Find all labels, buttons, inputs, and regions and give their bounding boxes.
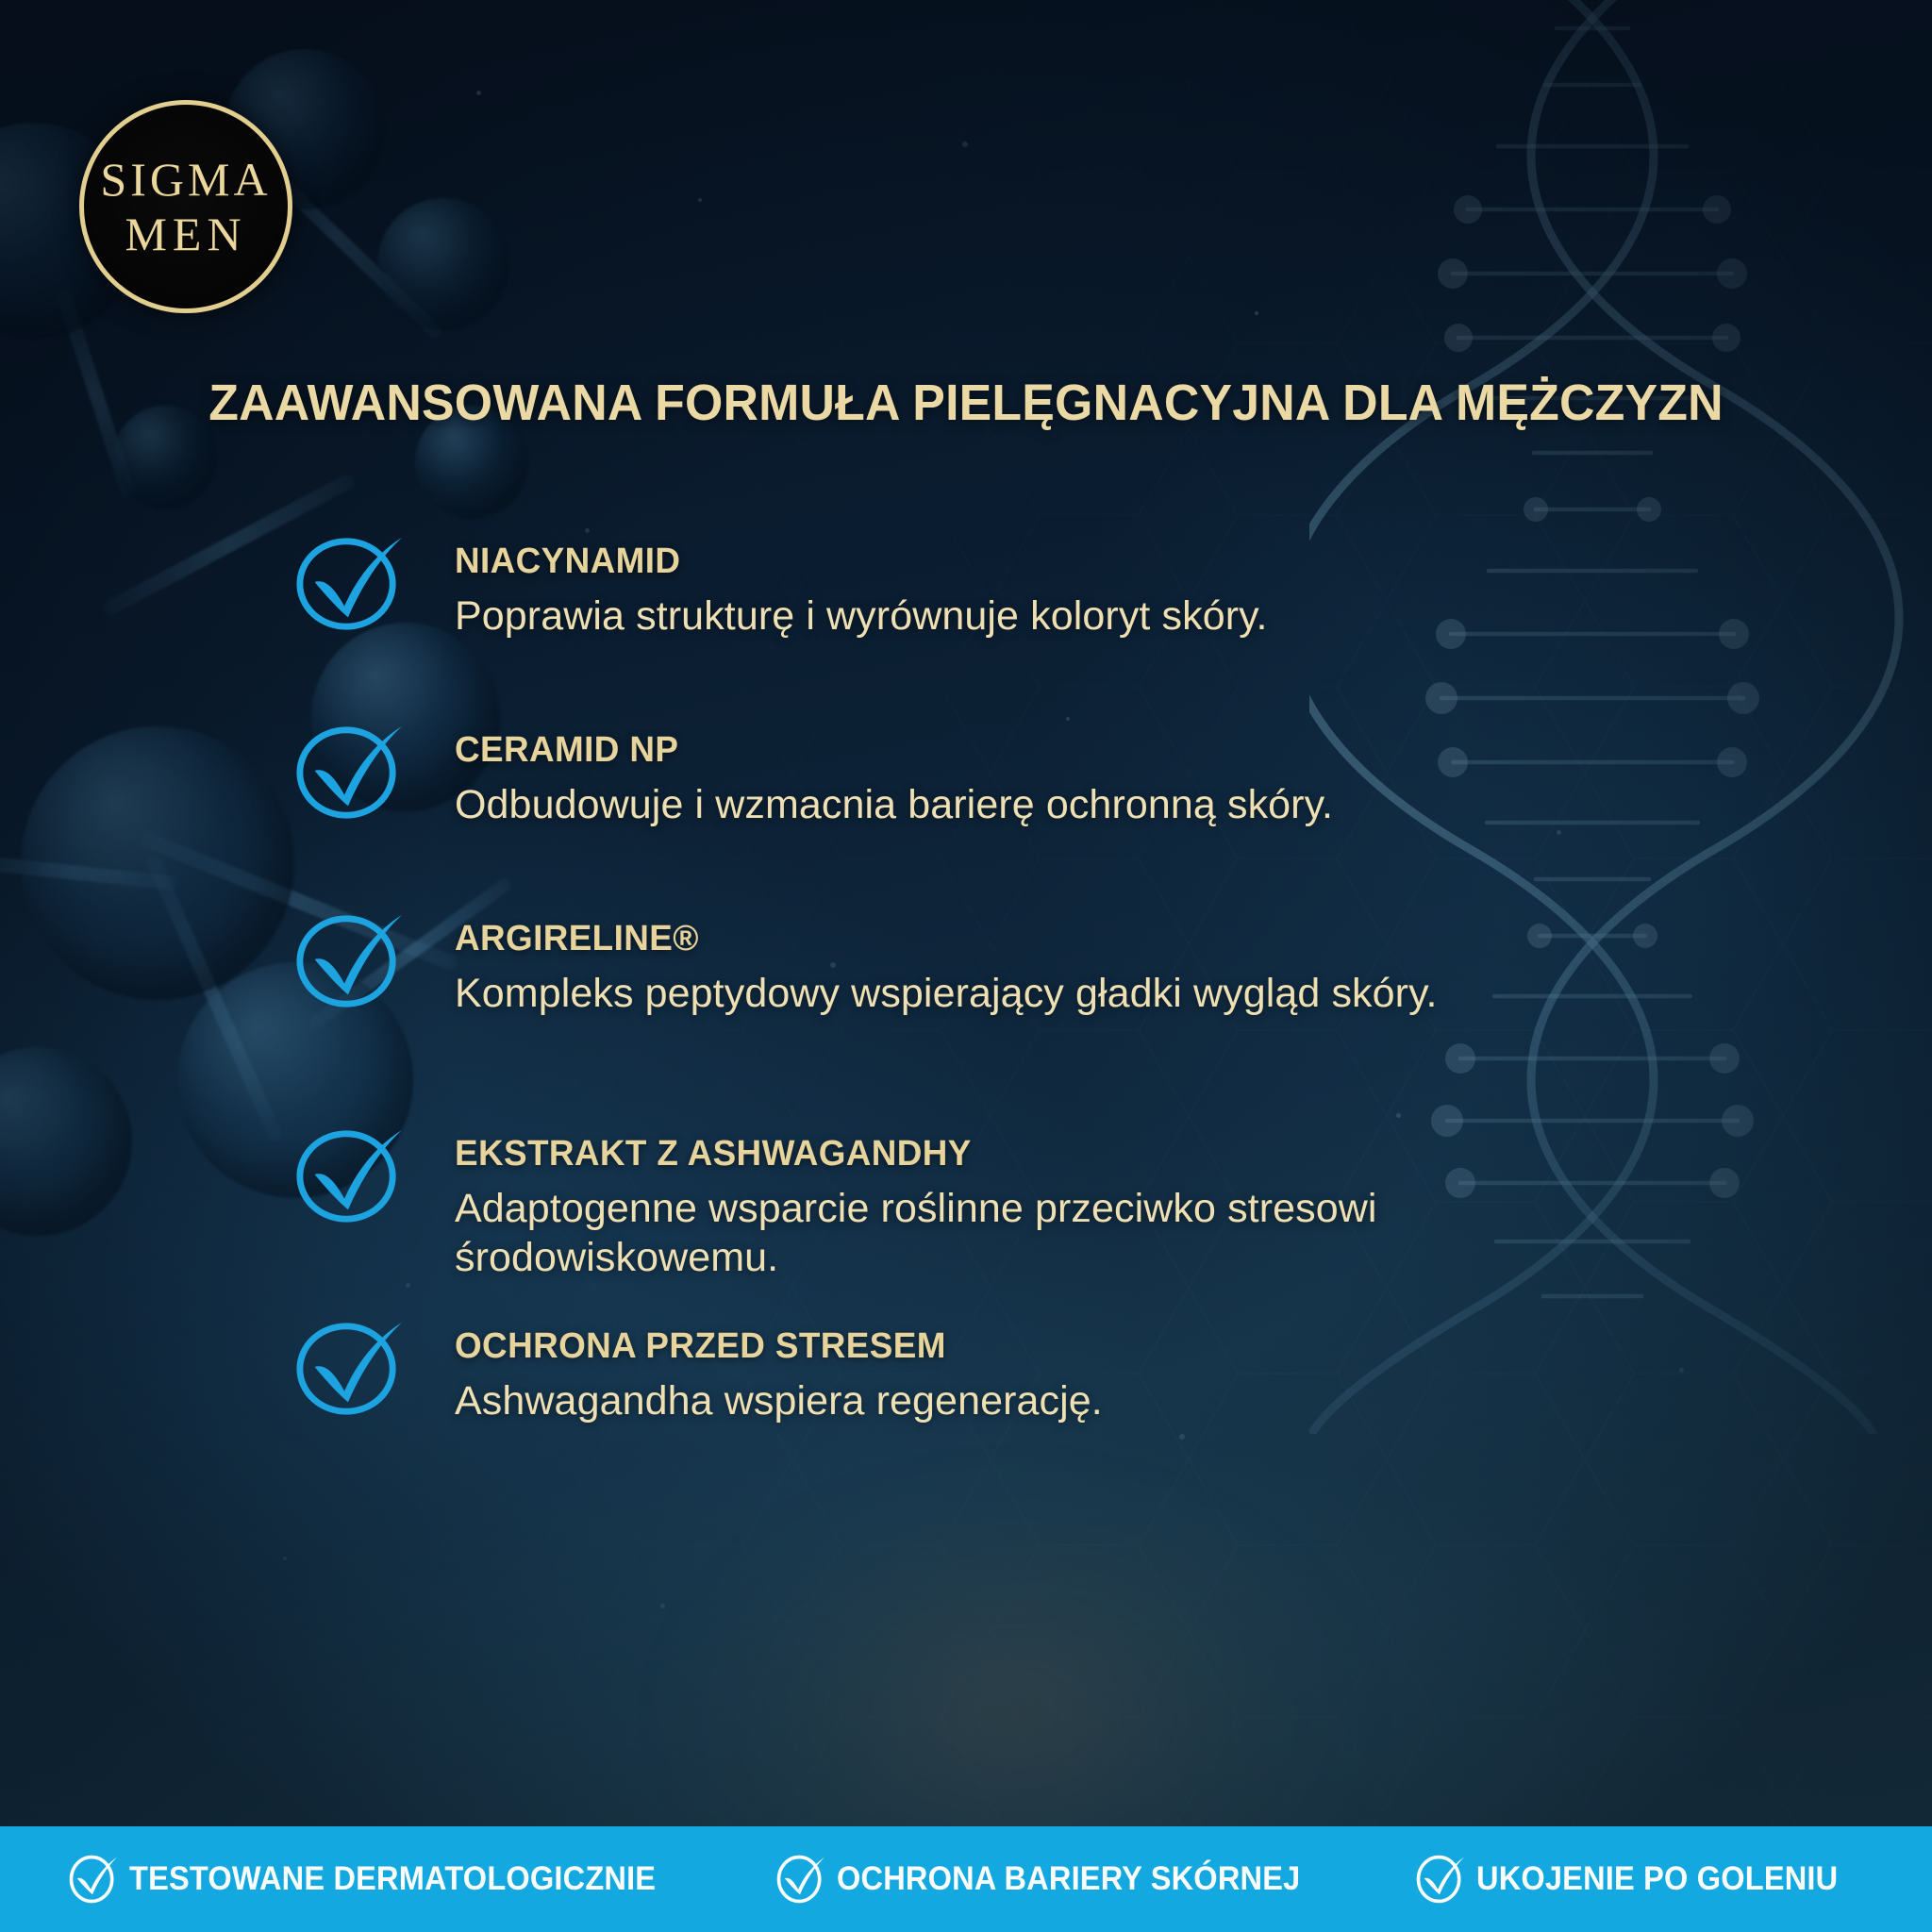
list-item-text: NIACYNAMID Poprawia strukturę i wyrównuj… — [455, 534, 1819, 641]
claim-badge-skin-barrier-protection: OCHRONA BARIERY SKÓRNEJ — [774, 1854, 1335, 1905]
check-circle-icon — [1414, 1854, 1465, 1905]
check-circle-icon — [292, 906, 404, 1017]
claim-label: OCHRONA BARIERY SKÓRNEJ — [837, 1860, 1300, 1898]
feature-title: OCHRONA PRZED STRESEM — [455, 1326, 1778, 1367]
feature-title: CERAMID NP — [455, 730, 1778, 771]
check-circle-icon — [292, 1121, 404, 1232]
list-item-text: ARGIRELINE® Kompleks peptydowy wspierają… — [455, 911, 1819, 1018]
poster-canvas: SIGMA MEN ZAAWANSOWANA FORMUŁA PIELĘGNAC… — [0, 0, 1932, 1932]
list-item: EKSTRAKT Z ASHWAGANDHY Adaptogenne wspar… — [292, 1126, 1819, 1283]
logo-line-2: MEN — [125, 210, 246, 258]
list-item: OCHRONA PRZED STRESEM Ashwagandha wspier… — [292, 1319, 1819, 1430]
list-item: CERAMID NP Odbudowuje i wzmacnia barierę… — [292, 723, 1819, 834]
feature-description: Poprawia strukturę i wyrównuje koloryt s… — [455, 591, 1819, 641]
list-item-text: CERAMID NP Odbudowuje i wzmacnia barierę… — [455, 723, 1819, 829]
list-item: ARGIRELINE® Kompleks peptydowy wspierają… — [292, 911, 1819, 1023]
feature-title: ARGIRELINE® — [455, 919, 1778, 959]
check-circle-icon — [292, 1313, 404, 1424]
check-circle-icon — [774, 1854, 825, 1905]
claim-label: TESTOWANE DERMATOLOGICZNIE — [129, 1860, 656, 1898]
sigma-men-logo-badge[interactable]: SIGMA MEN — [79, 100, 292, 313]
feature-description: Odbudowuje i wzmacnia barierę ochronną s… — [455, 780, 1819, 829]
claim-label: UKOJENIE PO GOLENIU — [1476, 1860, 1838, 1898]
feature-list: NIACYNAMID Poprawia strukturę i wyrównuj… — [292, 534, 1819, 1430]
list-item-text: EKSTRAKT Z ASHWAGANDHY Adaptogenne wspar… — [455, 1126, 1819, 1283]
feature-title: EKSTRAKT Z ASHWAGANDHY — [455, 1134, 1778, 1174]
check-circle-icon — [67, 1854, 118, 1905]
logo-line-1: SIGMA — [100, 156, 271, 203]
feature-title: NIACYNAMID — [455, 541, 1778, 582]
claims-banner: TESTOWANE DERMATOLOGICZNIE OCHRONA BARIE… — [0, 1826, 1932, 1932]
feature-description: Ashwagandha wspiera regenerację. — [455, 1376, 1819, 1425]
feature-description: Kompleks peptydowy wspierający gładki wy… — [455, 969, 1819, 1018]
check-circle-icon — [292, 528, 404, 640]
claim-badge-dermatologically-tested: TESTOWANE DERMATOLOGICZNIE — [67, 1854, 695, 1905]
list-item: NIACYNAMID Poprawia strukturę i wyrównuj… — [292, 534, 1819, 645]
check-circle-icon — [292, 717, 404, 828]
feature-description: Adaptogenne wsparcie roślinne przeciwko … — [455, 1184, 1672, 1283]
page-title: ZAAWANSOWANA FORMUŁA PIELĘGNACYJNA DLA M… — [39, 374, 1893, 432]
list-item-text: OCHRONA PRZED STRESEM Ashwagandha wspier… — [455, 1319, 1819, 1425]
claim-badge-after-shave-soothing: UKOJENIE PO GOLENIU — [1414, 1854, 1865, 1905]
